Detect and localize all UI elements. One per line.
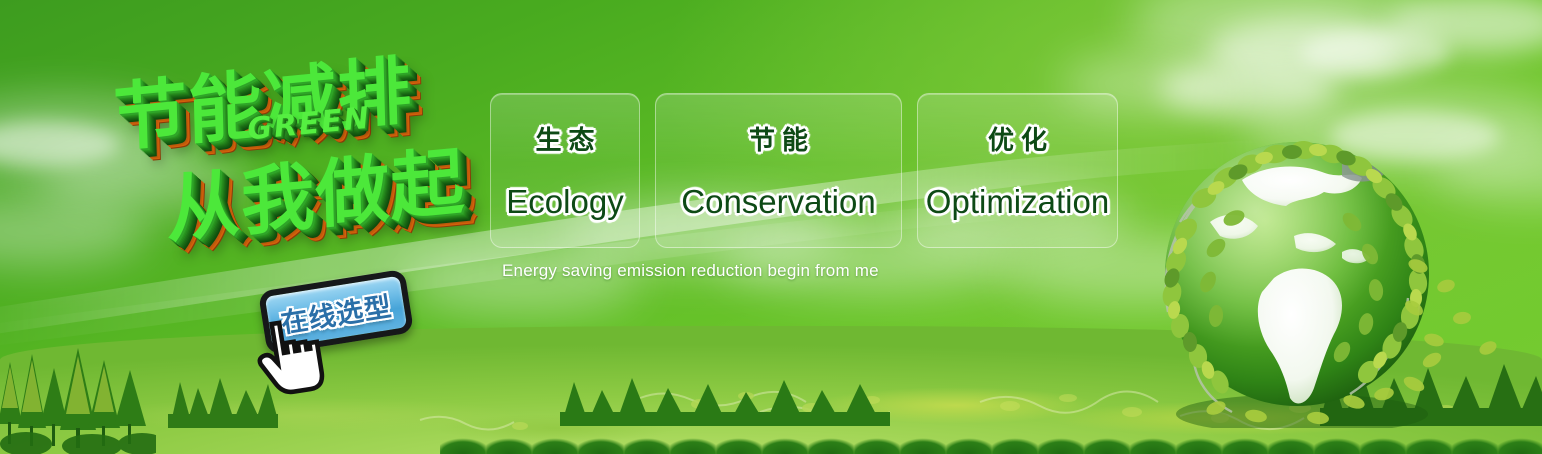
feature-cards: 生态 Ecology 节能 Conservation 优化 Optimizati… — [490, 93, 1118, 248]
hand-pointer-icon — [244, 309, 332, 404]
headline-3d: 节能减排 GREEN 从我做起 — [90, 24, 500, 285]
feature-card-optimization[interactable]: 优化 Optimization — [917, 93, 1118, 248]
card-en-label: Conservation — [681, 183, 875, 221]
feature-card-ecology[interactable]: 生态 Ecology — [490, 93, 640, 248]
eco-promo-banner: 节能减排 GREEN 从我做起 在线选型 生态 Ecology 节能 Conse… — [0, 0, 1542, 454]
card-en-label: Optimization — [926, 183, 1109, 221]
banner-tagline: Energy saving emission reduction begin f… — [502, 261, 879, 281]
card-cn-label: 优化 — [981, 120, 1054, 157]
card-cn-label: 生态 — [528, 120, 601, 157]
card-en-label: Ecology — [506, 183, 623, 221]
leafy-globe-icon — [1146, 126, 1448, 428]
card-cn-label: 节能 — [742, 120, 815, 157]
feature-card-conservation[interactable]: 节能 Conservation — [655, 93, 902, 248]
